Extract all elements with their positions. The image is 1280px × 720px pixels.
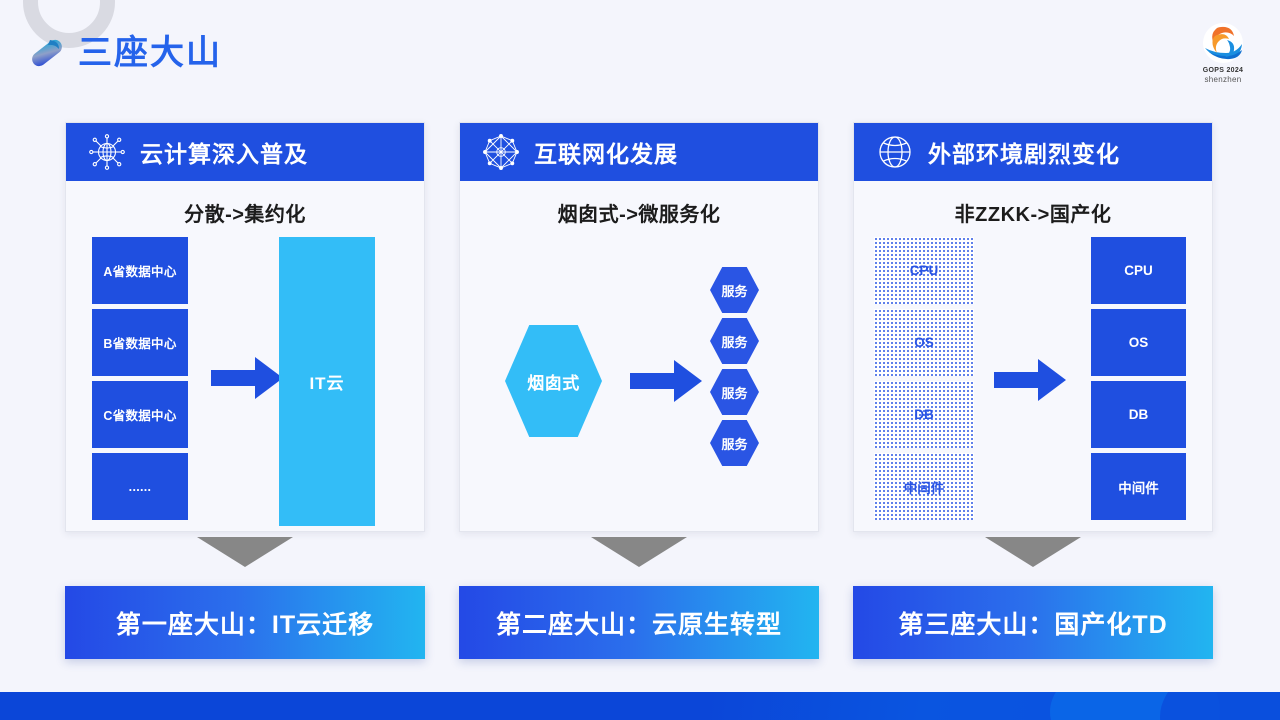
right-arrow-icon [994, 359, 1066, 401]
list-item: CPU [1091, 237, 1186, 304]
domestic-stack-list: CPU OS DB 中间件 [1091, 237, 1186, 525]
list-item: 服务 [710, 267, 759, 313]
gops-brand-logo: GOPS 2024 shenzhen [1193, 22, 1253, 86]
banner-mountain-3[interactable]: 第三座大山：国产化TD [853, 586, 1213, 659]
slide-header: 三座大山 GOPS 2024 shenzhen [0, 0, 1280, 105]
datacenter-list: A省数据中心 B省数据中心 C省数据中心 ...... [92, 237, 188, 525]
card-external-environment[interactable]: 外部环境剧烈变化 非ZZKK->国产化 CPU OS DB 中间件 CPU OS… [853, 122, 1213, 532]
brand-line-2: shenzhen [1193, 75, 1253, 85]
card-body: A省数据中心 B省数据中心 C省数据中心 ...... IT云 [66, 237, 424, 537]
card-body: 烟囱式 服务 服务 服务 服务 [460, 237, 818, 537]
list-item: B省数据中心 [92, 309, 188, 376]
card-body: CPU OS DB 中间件 CPU OS DB 中间件 [854, 237, 1212, 537]
network-globe-icon [88, 133, 126, 171]
brand-line-1: GOPS 2024 [1193, 66, 1253, 75]
banner-mountain-1[interactable]: 第一座大山：IT云迁移 [65, 586, 425, 659]
card-title: 互联网化发展 [534, 135, 678, 169]
down-triangle-icon [197, 537, 293, 567]
list-item: 中间件 [1091, 453, 1186, 520]
it-cloud-box: IT云 [279, 237, 375, 526]
list-item: CPU [874, 237, 974, 304]
down-triangle-icon [985, 537, 1081, 567]
service-hexagon-list: 服务 服务 服务 服务 [710, 267, 759, 471]
list-item: C省数据中心 [92, 381, 188, 448]
list-item: 中间件 [874, 453, 974, 520]
down-triangle-icon [591, 537, 687, 567]
footer-band [0, 692, 1280, 720]
list-item: OS [874, 309, 974, 376]
list-item: 服务 [710, 318, 759, 364]
card-subtitle: 分散->集约化 [66, 198, 424, 227]
list-item: DB [1091, 381, 1186, 448]
mesh-network-icon [482, 133, 520, 171]
card-subtitle: 非ZZKK->国产化 [854, 198, 1212, 227]
card-internetization[interactable]: 互联网化发展 烟囱式->微服务化 烟囱式 服务 服务 服务 服务 [459, 122, 819, 532]
globe-icon [876, 133, 914, 171]
list-item: A省数据中心 [92, 237, 188, 304]
gops-fish-logo [1197, 22, 1249, 66]
card-header: 云计算深入普及 [66, 123, 424, 181]
banner-mountain-2[interactable]: 第二座大山：云原生转型 [459, 586, 819, 659]
gradient-slash-logo [24, 29, 70, 75]
card-header: 外部环境剧烈变化 [854, 123, 1212, 181]
card-title: 云计算深入普及 [140, 135, 308, 169]
right-arrow-icon [630, 360, 702, 402]
list-item: 服务 [710, 420, 759, 466]
list-item: DB [874, 381, 974, 448]
wave-shape [1160, 692, 1280, 720]
card-title: 外部环境剧烈变化 [928, 135, 1120, 169]
list-item: OS [1091, 309, 1186, 376]
list-item: ...... [92, 453, 188, 520]
page-title: 三座大山 [78, 33, 222, 73]
list-item: 服务 [710, 369, 759, 415]
monolith-hexagon: 烟囱式 [505, 325, 602, 437]
foreign-stack-list: CPU OS DB 中间件 [874, 237, 974, 525]
card-header: 互联网化发展 [460, 123, 818, 181]
card-cloud-computing[interactable]: 云计算深入普及 分散->集约化 A省数据中心 B省数据中心 C省数据中心 ...… [65, 122, 425, 532]
card-subtitle: 烟囱式->微服务化 [460, 198, 818, 227]
right-arrow-icon [211, 357, 283, 399]
